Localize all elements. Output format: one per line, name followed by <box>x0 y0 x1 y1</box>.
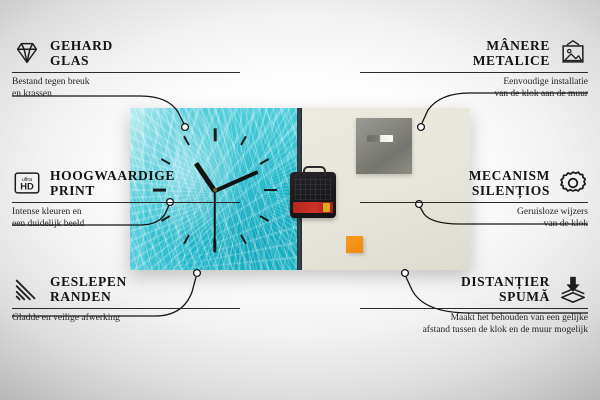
feature-geslepen-randen[interactable]: GESLEPEN RANDEN Gladde en veilige afwerk… <box>12 274 240 325</box>
feature-description: Bestand tegen breuk en krassen <box>12 77 240 100</box>
feature-title: GESLEPEN RANDEN <box>50 274 127 304</box>
silent-clock-mechanism <box>290 172 336 218</box>
feature-header: GEHARD GLAS <box>12 38 240 68</box>
feature-divider <box>360 72 588 73</box>
feature-divider <box>360 308 588 309</box>
feature-description: Maakt het behouden van een gelijke afsta… <box>360 313 588 336</box>
feature-hoogwaardige-print[interactable]: ultra HD HOOGWAARDIGE PRINT Intense kleu… <box>12 168 240 230</box>
feature-divider <box>12 202 240 203</box>
feature-divider <box>12 308 240 309</box>
feature-description: Intense kleuren en een duidelijk beeld <box>12 207 240 230</box>
feature-description: Gladde en veilige afwerking <box>12 313 240 325</box>
foam-spacer-icon <box>558 274 588 304</box>
feature-divider <box>360 202 588 203</box>
feature-title: MECANISM SILENȚIOS <box>469 168 550 198</box>
feature-divider <box>12 72 240 73</box>
feature-title: GEHARD GLAS <box>50 38 113 68</box>
foam-spacer <box>346 236 363 253</box>
clock-tick <box>264 189 277 192</box>
feature-distantier-spuma[interactable]: DISTANȚIER SPUMĂ Maakt het behouden van … <box>360 274 588 336</box>
picture-hanger-icon <box>558 38 588 68</box>
infographic-canvas: GEHARD GLAS Bestand tegen breuk en krass… <box>0 0 600 400</box>
feature-header: DISTANȚIER SPUMĂ <box>360 274 588 304</box>
feature-title: MÂNERE METALICE <box>473 38 550 68</box>
feature-manere-metalice[interactable]: MÂNERE METALICE Eenvoudige installatie v… <box>360 38 588 100</box>
clock-tick <box>214 128 217 141</box>
gear-icon <box>558 168 588 198</box>
feature-header: MECANISM SILENȚIOS <box>360 168 588 198</box>
battery <box>293 202 333 213</box>
hanger-slot <box>367 135 393 142</box>
metal-hanger-plate <box>356 118 412 174</box>
feature-description: Geruisloze wijzers van de klok <box>360 207 588 230</box>
feature-description: Eenvoudige installatie van de klok aan d… <box>360 77 588 100</box>
feature-mecanism-silentios[interactable]: MECANISM SILENȚIOS Geruisloze wijzers va… <box>360 168 588 230</box>
svg-text:HD: HD <box>20 182 34 192</box>
beveled-edges-icon <box>12 274 42 304</box>
feature-gehard-glas[interactable]: GEHARD GLAS Bestand tegen breuk en krass… <box>12 38 240 100</box>
feature-header: MÂNERE METALICE <box>360 38 588 68</box>
feature-title: HOOGWAARDIGE PRINT <box>50 168 175 198</box>
mechanism-texture <box>295 178 331 200</box>
feature-header: ultra HD HOOGWAARDIGE PRINT <box>12 168 240 198</box>
diamond-icon <box>12 38 42 68</box>
mechanism-hook <box>303 166 326 176</box>
feature-header: GESLEPEN RANDEN <box>12 274 240 304</box>
ultra-hd-badge-icon: ultra HD <box>12 168 42 198</box>
feature-title: DISTANȚIER SPUMĂ <box>461 274 550 304</box>
